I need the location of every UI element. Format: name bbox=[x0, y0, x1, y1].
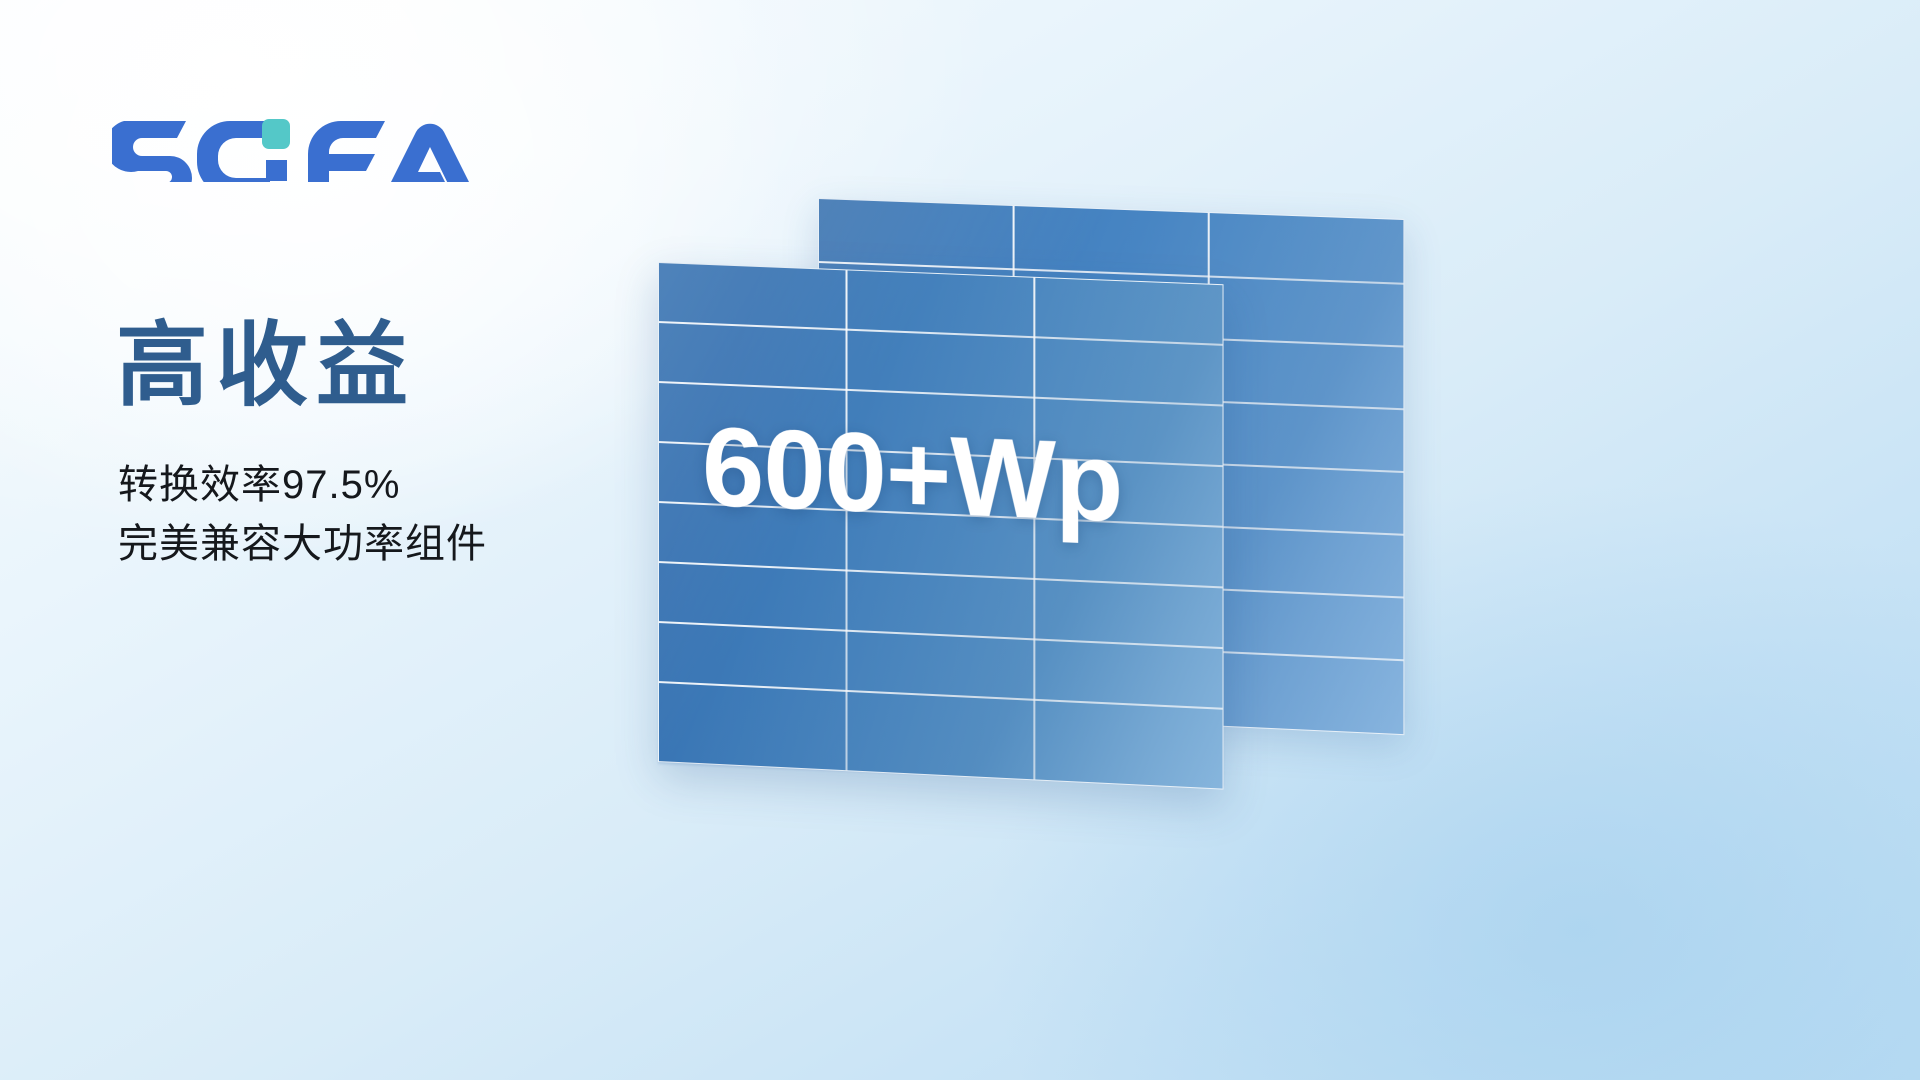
logo-letter-s bbox=[112, 121, 192, 182]
subtitle-line-2: 完美兼容大功率组件 bbox=[118, 515, 487, 574]
product-illustration: 600+Wp bbox=[600, 140, 1500, 920]
page-title: 高收益 bbox=[116, 318, 416, 415]
banner-canvas: 高收益 转换效率97.5% 完美兼容大功率组件 bbox=[0, 0, 1920, 1080]
logo-teal-stem bbox=[266, 160, 287, 181]
logo-letter-o bbox=[197, 121, 270, 182]
logo-letter-a bbox=[382, 124, 478, 182]
logo-teal-dot-icon bbox=[262, 119, 290, 149]
subtitle-line-1: 转换效率97.5% bbox=[118, 456, 487, 515]
subtitle-block: 转换效率97.5% 完美兼容大功率组件 bbox=[118, 456, 487, 574]
product-power-label: 600+Wp bbox=[702, 402, 1122, 547]
logo-letter-f bbox=[308, 121, 385, 182]
sofar-logo bbox=[112, 108, 482, 182]
